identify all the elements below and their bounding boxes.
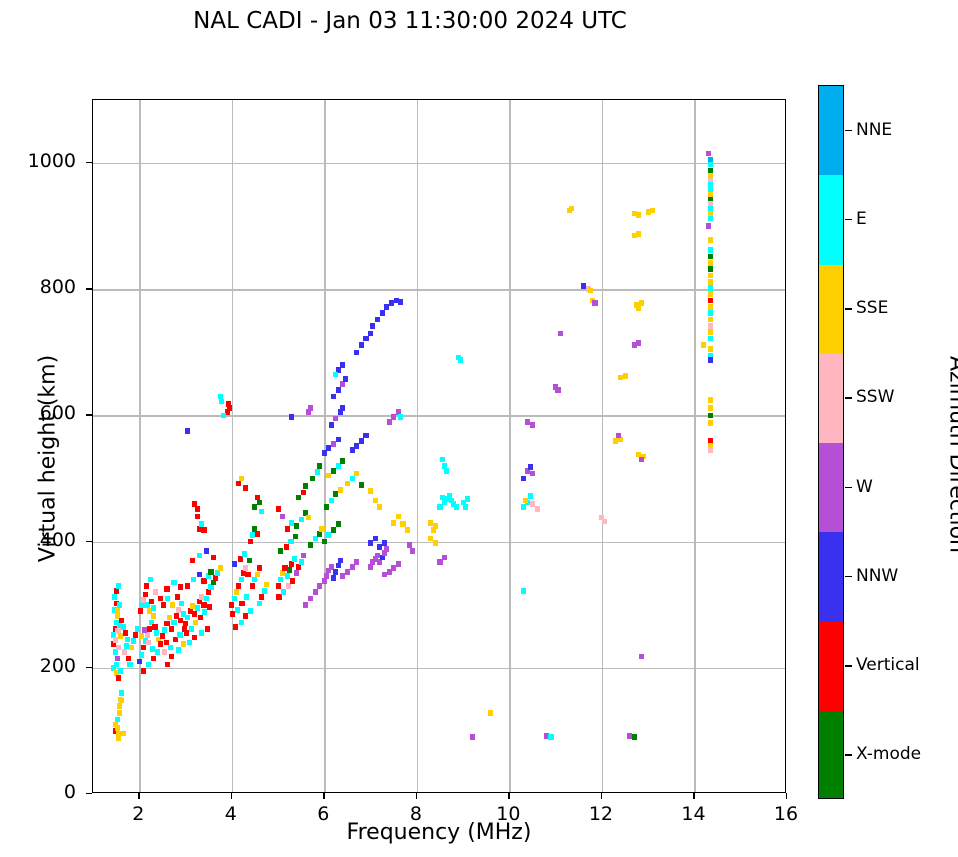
data-marker bbox=[294, 570, 299, 576]
data-marker bbox=[113, 637, 118, 643]
data-marker bbox=[639, 457, 644, 463]
data-marker bbox=[623, 373, 628, 379]
colorbar-tick bbox=[845, 308, 852, 309]
data-marker bbox=[165, 596, 170, 602]
data-marker bbox=[278, 548, 283, 554]
data-marker bbox=[336, 437, 341, 443]
data-marker bbox=[373, 498, 378, 504]
data-marker bbox=[143, 592, 148, 598]
data-marker bbox=[171, 620, 176, 626]
data-marker bbox=[336, 463, 341, 469]
y-tick-label: 200 bbox=[6, 655, 76, 677]
data-marker bbox=[248, 608, 253, 614]
data-marker bbox=[155, 649, 160, 655]
data-marker bbox=[255, 572, 260, 578]
x-tick bbox=[138, 793, 139, 799]
x-tick bbox=[693, 793, 694, 799]
data-marker bbox=[639, 654, 644, 660]
data-marker bbox=[257, 565, 262, 571]
x-tick bbox=[416, 793, 417, 799]
x-axis-label: Frequency (MHz) bbox=[92, 820, 786, 845]
data-marker bbox=[301, 490, 306, 496]
data-marker bbox=[133, 632, 138, 638]
data-marker bbox=[431, 527, 436, 533]
data-marker bbox=[245, 572, 250, 578]
data-marker bbox=[308, 542, 313, 548]
data-marker bbox=[442, 555, 447, 561]
data-marker bbox=[322, 539, 327, 545]
data-marker bbox=[708, 279, 713, 285]
data-marker bbox=[708, 260, 713, 266]
x-tick bbox=[508, 793, 509, 799]
data-marker bbox=[206, 589, 211, 595]
data-marker bbox=[636, 231, 641, 237]
data-marker bbox=[119, 698, 124, 704]
data-marker bbox=[255, 495, 260, 501]
data-marker bbox=[121, 624, 126, 630]
data-marker bbox=[340, 458, 345, 464]
data-marker bbox=[286, 583, 291, 589]
data-marker bbox=[218, 565, 223, 571]
data-marker bbox=[171, 580, 176, 586]
x-tick bbox=[231, 793, 232, 799]
gridline-vertical bbox=[232, 100, 233, 792]
data-marker bbox=[176, 647, 181, 653]
data-marker bbox=[521, 476, 526, 482]
data-marker bbox=[169, 626, 174, 632]
data-marker bbox=[708, 298, 713, 304]
data-marker bbox=[285, 526, 290, 532]
data-marker bbox=[211, 555, 216, 561]
data-marker bbox=[331, 575, 336, 581]
data-marker bbox=[185, 583, 190, 589]
data-marker bbox=[117, 602, 122, 608]
data-marker bbox=[708, 237, 713, 243]
data-marker bbox=[287, 567, 292, 573]
data-marker bbox=[336, 521, 341, 527]
data-marker bbox=[488, 710, 493, 716]
data-marker bbox=[333, 569, 338, 575]
data-marker bbox=[324, 573, 329, 579]
data-marker bbox=[303, 602, 308, 608]
data-marker bbox=[219, 399, 224, 405]
colorbar-segment-w bbox=[819, 443, 843, 532]
data-marker bbox=[616, 433, 621, 439]
data-marker bbox=[259, 509, 264, 515]
data-marker bbox=[146, 640, 151, 646]
data-marker bbox=[708, 254, 713, 260]
colorbar-tick bbox=[845, 487, 852, 488]
colorbar-segment-sse bbox=[819, 265, 843, 354]
data-marker bbox=[375, 317, 380, 323]
data-marker bbox=[306, 515, 311, 521]
data-marker bbox=[354, 559, 359, 565]
data-marker bbox=[440, 457, 445, 463]
data-marker bbox=[470, 734, 475, 740]
data-marker bbox=[169, 654, 174, 660]
colorbar-label-nne: NNE bbox=[856, 120, 892, 140]
data-marker bbox=[168, 645, 173, 651]
colorbar-tick bbox=[845, 665, 852, 666]
data-marker bbox=[303, 483, 308, 489]
data-marker bbox=[407, 542, 412, 548]
data-marker bbox=[338, 558, 343, 564]
data-marker bbox=[400, 521, 405, 527]
data-marker bbox=[147, 626, 152, 632]
data-marker bbox=[345, 569, 350, 575]
data-marker bbox=[204, 548, 209, 554]
data-marker bbox=[359, 482, 364, 488]
data-marker bbox=[437, 559, 442, 565]
data-marker bbox=[458, 357, 463, 363]
data-marker bbox=[528, 464, 533, 470]
colorbar-label: Azimuth Direction bbox=[945, 275, 958, 635]
data-marker bbox=[708, 413, 713, 419]
data-marker bbox=[197, 572, 202, 578]
data-marker bbox=[145, 632, 150, 638]
gridline-vertical bbox=[602, 100, 603, 792]
data-marker bbox=[205, 626, 210, 632]
data-marker bbox=[317, 531, 322, 537]
data-marker bbox=[387, 419, 392, 425]
data-marker bbox=[232, 561, 237, 567]
data-marker bbox=[396, 514, 401, 520]
data-marker bbox=[115, 717, 120, 723]
gridline-vertical bbox=[139, 100, 140, 792]
data-marker bbox=[336, 563, 341, 569]
data-marker bbox=[523, 498, 528, 504]
colorbar-segment-nnw bbox=[819, 532, 843, 621]
data-marker bbox=[324, 504, 329, 510]
data-marker bbox=[138, 608, 143, 614]
data-marker bbox=[280, 514, 285, 520]
data-marker bbox=[124, 643, 129, 649]
data-marker bbox=[122, 649, 127, 655]
data-marker bbox=[201, 602, 206, 608]
data-marker bbox=[115, 656, 120, 662]
data-marker bbox=[548, 734, 553, 740]
data-marker bbox=[192, 635, 197, 641]
data-marker bbox=[115, 608, 120, 614]
data-marker bbox=[141, 645, 146, 651]
data-marker bbox=[333, 372, 338, 378]
data-marker bbox=[294, 523, 299, 529]
data-marker bbox=[345, 481, 350, 487]
data-marker bbox=[233, 624, 238, 630]
data-marker bbox=[121, 731, 126, 737]
data-marker bbox=[165, 662, 170, 668]
data-marker bbox=[333, 416, 338, 422]
data-marker bbox=[708, 285, 713, 291]
y-tick bbox=[86, 288, 92, 289]
data-marker bbox=[153, 589, 158, 595]
data-marker bbox=[380, 310, 385, 316]
gridline-vertical bbox=[509, 100, 510, 792]
data-marker bbox=[118, 668, 123, 674]
colorbar bbox=[818, 85, 844, 799]
data-marker bbox=[215, 570, 220, 576]
data-marker bbox=[170, 602, 175, 608]
data-marker bbox=[141, 668, 146, 674]
data-marker bbox=[151, 605, 156, 611]
gridline-horizontal bbox=[93, 542, 785, 543]
data-marker bbox=[248, 539, 253, 545]
data-marker bbox=[331, 468, 336, 474]
ionogram-figure: NAL CADI - Jan 03 11:30:00 2024 UTC 2468… bbox=[0, 0, 958, 857]
data-marker bbox=[396, 561, 401, 567]
data-marker bbox=[226, 401, 231, 407]
data-marker bbox=[264, 582, 269, 588]
data-marker bbox=[410, 548, 415, 554]
data-marker bbox=[129, 645, 134, 651]
data-marker bbox=[158, 596, 163, 602]
data-marker bbox=[162, 627, 167, 633]
data-marker bbox=[284, 544, 289, 550]
colorbar-segment-vertical bbox=[819, 622, 843, 711]
data-marker bbox=[177, 632, 182, 638]
data-marker bbox=[202, 609, 207, 615]
data-marker bbox=[530, 422, 535, 428]
data-marker bbox=[139, 633, 144, 639]
data-marker bbox=[530, 471, 535, 477]
data-marker bbox=[199, 521, 204, 527]
data-marker bbox=[252, 577, 257, 583]
colorbar-tick bbox=[845, 219, 852, 220]
data-marker bbox=[229, 602, 234, 608]
data-marker bbox=[190, 558, 195, 564]
data-marker bbox=[235, 607, 240, 613]
data-marker bbox=[289, 520, 294, 526]
data-marker bbox=[382, 540, 387, 546]
data-marker bbox=[189, 626, 194, 632]
data-marker bbox=[299, 517, 304, 523]
data-marker bbox=[144, 583, 149, 589]
data-marker bbox=[192, 611, 197, 617]
data-marker bbox=[708, 291, 713, 297]
data-marker bbox=[142, 627, 147, 633]
data-marker bbox=[384, 546, 389, 552]
data-marker bbox=[139, 652, 144, 658]
data-marker bbox=[322, 578, 327, 584]
data-marker bbox=[152, 624, 157, 630]
colorbar-segment-nne bbox=[819, 86, 843, 175]
data-marker bbox=[708, 247, 713, 253]
plot-area bbox=[92, 99, 786, 793]
data-marker bbox=[308, 596, 313, 602]
data-marker bbox=[293, 534, 298, 540]
x-tick bbox=[786, 793, 787, 799]
data-marker bbox=[535, 506, 540, 512]
data-marker bbox=[213, 575, 218, 581]
y-tick-label: 0 bbox=[6, 781, 76, 803]
data-marker bbox=[708, 304, 713, 310]
data-marker bbox=[329, 422, 334, 428]
data-marker bbox=[708, 447, 713, 453]
data-marker bbox=[198, 615, 203, 621]
gridline-horizontal bbox=[93, 668, 785, 669]
data-marker bbox=[350, 564, 355, 570]
data-marker bbox=[368, 488, 373, 494]
data-marker bbox=[236, 583, 241, 589]
data-marker bbox=[183, 621, 188, 627]
colorbar-label-vertical: Vertical bbox=[856, 655, 920, 675]
data-marker bbox=[433, 540, 438, 546]
data-marker bbox=[116, 675, 121, 681]
data-marker bbox=[296, 564, 301, 570]
data-marker bbox=[701, 342, 706, 348]
data-marker bbox=[636, 212, 641, 218]
data-marker bbox=[259, 594, 264, 600]
gridline-horizontal bbox=[93, 163, 785, 164]
data-marker bbox=[197, 553, 202, 559]
data-marker bbox=[208, 569, 213, 575]
data-marker bbox=[340, 362, 345, 368]
data-marker bbox=[350, 476, 355, 482]
colorbar-label-e: E bbox=[856, 209, 867, 229]
gridline-vertical bbox=[694, 100, 695, 792]
data-marker bbox=[116, 736, 121, 742]
data-marker bbox=[146, 662, 151, 668]
data-marker bbox=[708, 323, 713, 329]
data-marker bbox=[368, 564, 373, 570]
x-tick bbox=[601, 793, 602, 799]
data-marker bbox=[276, 583, 281, 589]
data-marker bbox=[465, 496, 470, 502]
data-marker bbox=[276, 506, 281, 512]
gridline-horizontal bbox=[93, 415, 785, 416]
data-marker bbox=[368, 331, 373, 337]
data-marker bbox=[117, 703, 122, 709]
data-marker bbox=[151, 613, 156, 619]
data-marker bbox=[175, 594, 180, 600]
data-marker bbox=[181, 641, 186, 647]
data-marker bbox=[444, 468, 449, 474]
data-marker bbox=[454, 504, 459, 510]
colorbar-segment-e bbox=[819, 175, 843, 264]
data-marker bbox=[290, 578, 295, 584]
y-tick-label: 1000 bbox=[6, 150, 76, 172]
data-marker bbox=[131, 638, 136, 644]
x-tick bbox=[323, 793, 324, 799]
data-marker bbox=[708, 397, 713, 403]
data-marker bbox=[289, 414, 294, 420]
data-marker bbox=[257, 601, 262, 607]
data-marker bbox=[247, 558, 252, 564]
data-marker bbox=[154, 630, 159, 636]
data-marker bbox=[528, 493, 533, 499]
data-marker bbox=[708, 317, 713, 323]
data-marker bbox=[119, 618, 124, 624]
colorbar-tick bbox=[845, 130, 852, 131]
data-marker bbox=[636, 340, 641, 346]
data-marker bbox=[296, 495, 301, 501]
data-marker bbox=[127, 662, 132, 668]
data-marker bbox=[116, 645, 121, 651]
data-marker bbox=[336, 387, 341, 393]
data-marker bbox=[125, 637, 130, 643]
data-marker bbox=[164, 586, 169, 592]
data-marker bbox=[340, 405, 345, 411]
data-marker bbox=[588, 288, 593, 294]
data-marker bbox=[363, 336, 368, 342]
data-marker bbox=[239, 601, 244, 607]
data-marker bbox=[257, 500, 262, 506]
data-marker bbox=[555, 387, 560, 393]
data-marker bbox=[317, 463, 322, 469]
data-marker bbox=[398, 299, 403, 305]
data-marker bbox=[187, 640, 192, 646]
data-marker bbox=[243, 613, 248, 619]
data-marker bbox=[116, 583, 121, 589]
data-marker bbox=[706, 151, 711, 157]
data-marker bbox=[148, 577, 153, 583]
data-marker bbox=[602, 519, 607, 525]
colorbar-label-w: W bbox=[856, 477, 873, 497]
data-marker bbox=[243, 565, 248, 571]
data-marker bbox=[207, 604, 212, 610]
data-marker bbox=[239, 476, 244, 482]
data-marker bbox=[592, 300, 597, 306]
data-marker bbox=[221, 413, 226, 419]
data-marker bbox=[354, 443, 359, 449]
data-marker bbox=[463, 504, 468, 510]
data-marker bbox=[239, 577, 244, 583]
data-marker bbox=[377, 504, 382, 510]
gridline-horizontal bbox=[93, 289, 785, 290]
data-marker bbox=[276, 594, 281, 600]
data-marker bbox=[708, 346, 713, 352]
data-marker bbox=[158, 641, 163, 647]
data-marker bbox=[308, 405, 313, 411]
data-marker bbox=[708, 357, 713, 363]
data-marker bbox=[150, 646, 155, 652]
data-marker bbox=[521, 588, 526, 594]
data-marker bbox=[340, 381, 345, 387]
data-marker bbox=[191, 577, 196, 583]
data-marker bbox=[706, 223, 711, 229]
data-marker bbox=[244, 594, 249, 600]
data-marker bbox=[315, 469, 320, 475]
data-marker bbox=[354, 350, 359, 356]
colorbar-segment-x-mode bbox=[819, 711, 843, 799]
data-marker bbox=[329, 498, 334, 504]
data-marker bbox=[255, 531, 260, 537]
data-marker bbox=[331, 394, 336, 400]
data-marker bbox=[331, 527, 336, 533]
data-marker bbox=[569, 206, 574, 212]
data-marker bbox=[359, 342, 364, 348]
data-marker bbox=[195, 506, 200, 512]
data-marker bbox=[179, 601, 184, 607]
data-marker bbox=[185, 428, 190, 434]
data-marker bbox=[151, 656, 156, 662]
data-marker bbox=[398, 414, 403, 420]
data-marker bbox=[708, 310, 713, 316]
data-marker bbox=[160, 633, 165, 639]
data-marker bbox=[162, 649, 167, 655]
data-marker bbox=[708, 273, 713, 279]
colorbar-tick bbox=[845, 397, 852, 398]
gridline-vertical bbox=[417, 100, 418, 792]
data-marker bbox=[708, 216, 713, 222]
data-marker bbox=[232, 596, 237, 602]
y-tick bbox=[86, 667, 92, 668]
data-marker bbox=[285, 573, 290, 579]
data-marker bbox=[199, 630, 204, 636]
colorbar-tick bbox=[845, 754, 852, 755]
data-marker bbox=[115, 725, 120, 731]
data-marker bbox=[650, 208, 655, 214]
